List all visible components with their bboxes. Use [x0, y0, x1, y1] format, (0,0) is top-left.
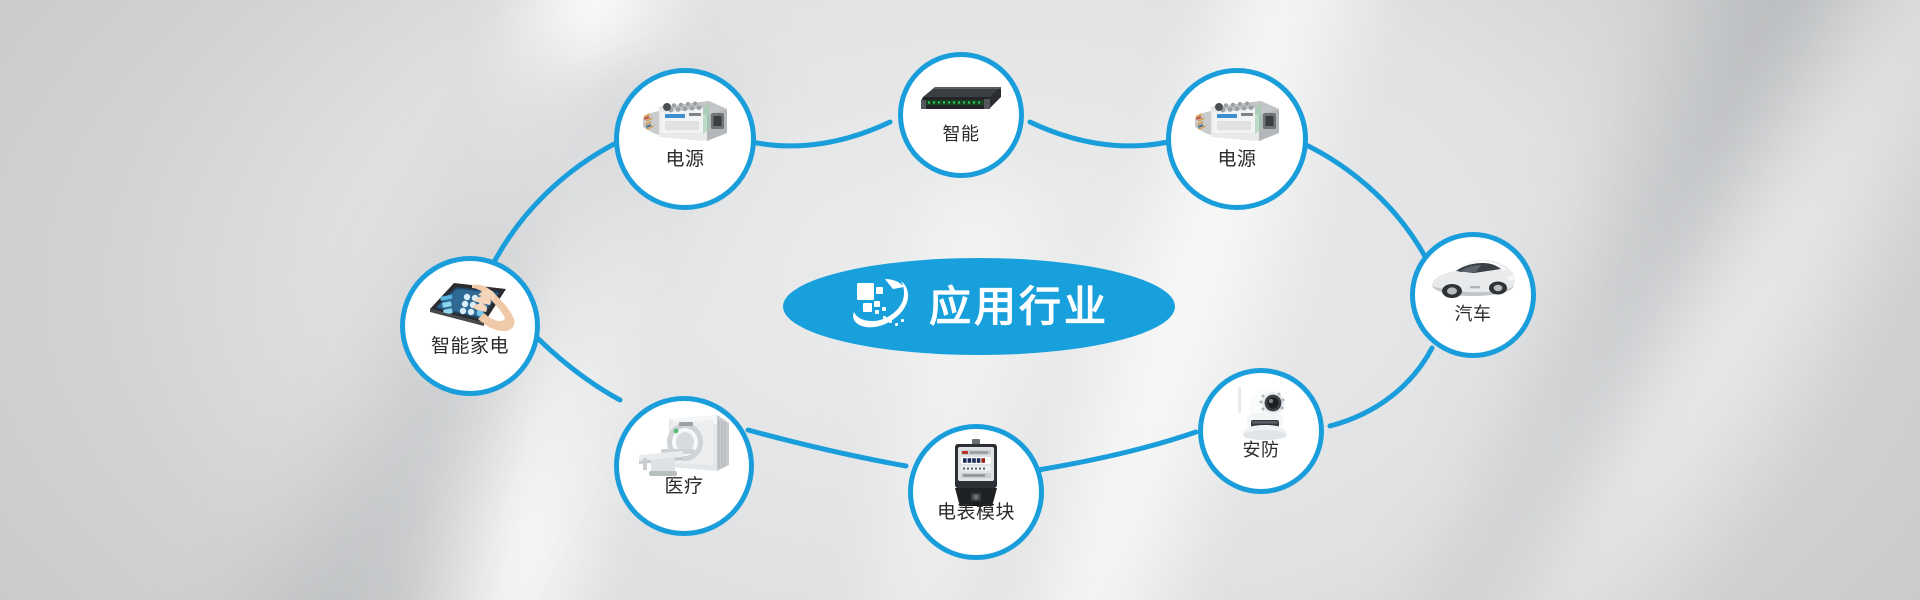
node-security[interactable]: 安防 — [1198, 368, 1324, 494]
link-power-auto — [1300, 142, 1428, 262]
ct-scanner-icon — [619, 401, 749, 479]
node-meter-module[interactable]: 电表模块 — [908, 424, 1044, 560]
node-label: 电表模块 — [937, 503, 1015, 522]
node-smart-home[interactable]: 智能家电 — [400, 256, 540, 396]
node-power-left[interactable]: 电源 — [614, 68, 756, 210]
link-meter-medical — [748, 430, 906, 466]
atx-power-supply-icon — [619, 73, 751, 152]
node-label: 汽车 — [1455, 305, 1492, 323]
link-security-meter — [1038, 432, 1196, 470]
node-label: 电源 — [665, 150, 704, 169]
node-label: 智能 — [943, 125, 980, 143]
node-smart[interactable]: 智能 — [898, 52, 1024, 178]
node-label: 医疗 — [664, 477, 703, 496]
electric-meter-icon — [913, 429, 1039, 505]
link-auto-security — [1330, 348, 1432, 426]
orbit-swoosh-icon — [849, 277, 915, 337]
link-smarthome-power — [492, 141, 620, 266]
badge-label: 应用行业 — [929, 286, 1109, 328]
center-badge[interactable]: 应用行业 — [783, 258, 1175, 355]
hero-banner: 应用行业 — [0, 0, 1920, 600]
node-label: 智能家电 — [431, 337, 509, 356]
tablet-touch-icon — [405, 261, 535, 339]
link-power-smart — [752, 122, 890, 146]
link-smart-power — [1030, 122, 1168, 146]
node-label: 电源 — [1217, 150, 1256, 169]
node-power-right[interactable]: 电源 — [1166, 68, 1308, 210]
atx-power-supply-icon — [1171, 73, 1303, 152]
rack-server-icon — [903, 57, 1019, 127]
node-medical[interactable]: 医疗 — [614, 396, 754, 536]
node-automotive[interactable]: 汽车 — [1410, 232, 1536, 358]
sports-car-icon — [1415, 237, 1531, 307]
node-label: 安防 — [1243, 441, 1280, 459]
ip-camera-icon — [1203, 373, 1319, 443]
